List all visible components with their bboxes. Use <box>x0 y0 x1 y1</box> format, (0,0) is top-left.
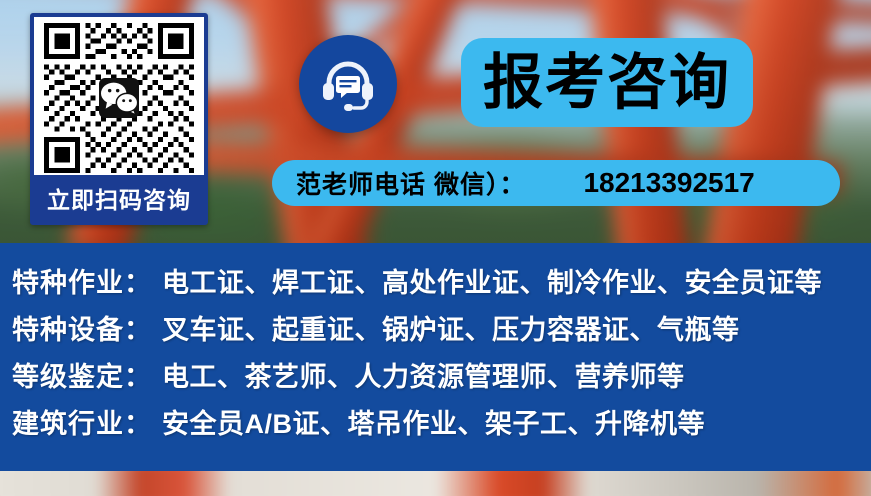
qr-card[interactable]: 立即扫码咨询 <box>30 13 208 225</box>
bottom-photo-strip <box>0 471 871 496</box>
qr-code[interactable] <box>44 23 194 173</box>
promo-banner: 立即扫码咨询 报考咨询 范老师电话 微信）： 18213392517 特种作业：… <box>0 0 871 496</box>
info-row-label: 等级鉴定： <box>12 355 162 394</box>
contact-pill[interactable]: 范老师电话 微信）： 18213392517 <box>272 160 840 206</box>
info-row: 等级鉴定： 电工、茶艺师、人力资源管理师、营养师等 <box>12 355 871 402</box>
info-row-value: 电工、茶艺师、人力资源管理师、营养师等 <box>162 355 685 394</box>
info-row: 建筑行业： 安全员A/B证、塔吊作业、架子工、升降机等 <box>12 402 871 449</box>
info-row: 特种作业： 电工证、焊工证、高处作业证、制冷作业、安全员证等 <box>12 261 871 308</box>
info-row-label: 建筑行业： <box>12 402 162 441</box>
wechat-icon <box>99 78 139 118</box>
info-row-value: 叉车证、起重证、锅炉证、压力容器证、气瓶等 <box>162 308 740 347</box>
contact-phone-number[interactable]: 18213392517 <box>583 167 754 199</box>
headset-support-icon <box>299 35 397 133</box>
title-badge: 报考咨询 <box>461 38 753 127</box>
info-row: 特种设备： 叉车证、起重证、锅炉证、压力容器证、气瓶等 <box>12 308 871 355</box>
headset-glyph <box>317 53 379 115</box>
qr-code-area[interactable] <box>34 17 204 175</box>
info-row-value: 电工证、焊工证、高处作业证、制冷作业、安全员证等 <box>162 261 822 300</box>
wechat-glyph <box>99 23 139 173</box>
bottom-photo-blur <box>0 471 871 496</box>
info-row-value: 安全员A/B证、塔吊作业、架子工、升降机等 <box>162 402 705 441</box>
info-row-label: 特种设备： <box>12 308 162 347</box>
info-panel: 特种作业： 电工证、焊工证、高处作业证、制冷作业、安全员证等 特种设备： 叉车证… <box>0 243 871 471</box>
qr-caption: 立即扫码咨询 <box>34 175 204 221</box>
info-row-label: 特种作业： <box>12 261 162 300</box>
title-badge-text: 报考咨询 <box>483 53 731 113</box>
contact-label: 范老师电话 微信）： <box>296 165 525 201</box>
